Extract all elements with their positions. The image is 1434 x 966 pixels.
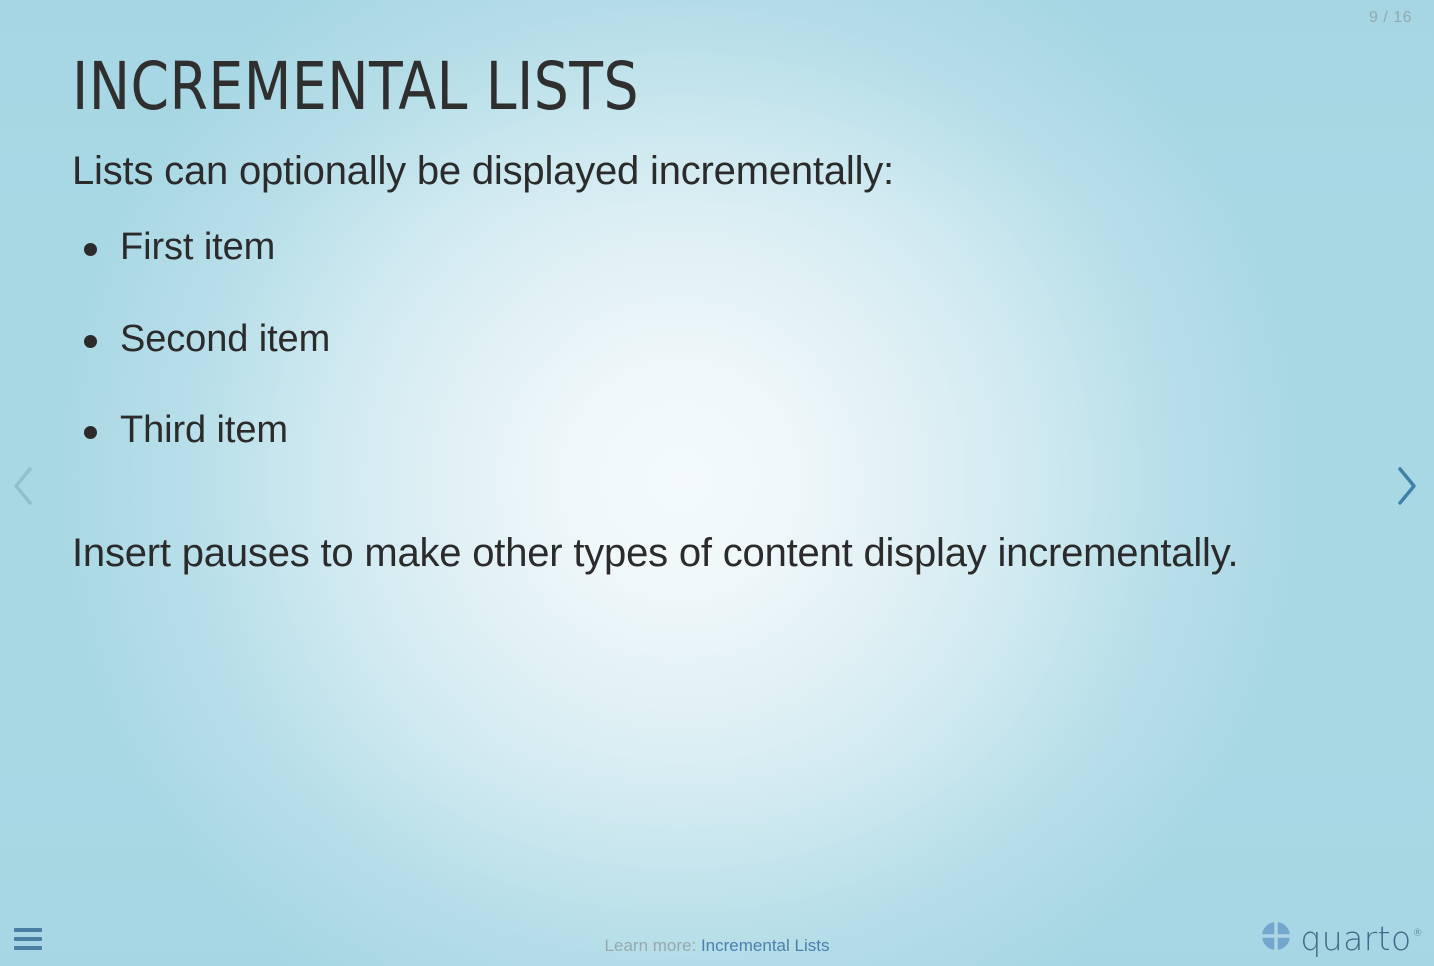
slide-content: INCREMENTAL LISTS Lists can optionally b… (72, 52, 1362, 580)
quarto-wordmark: quarto® (1300, 922, 1422, 955)
hamburger-menu-icon[interactable] (12, 924, 46, 954)
bullet-dot-icon (84, 243, 97, 256)
list-item: Third item (72, 408, 1362, 454)
page-indicator: 9 / 16 (1369, 9, 1412, 27)
menu-bar (14, 928, 42, 932)
closing-paragraph: Insert pauses to make other types of con… (72, 526, 1287, 580)
menu-bar (14, 946, 42, 950)
menu-bar (14, 937, 42, 941)
list-item: First item (72, 225, 1362, 271)
list-item-label: Second item (120, 318, 330, 360)
bullet-dot-icon (84, 335, 97, 348)
list-item-label: Third item (120, 409, 288, 451)
quarto-circle-icon (1261, 921, 1291, 956)
next-slide-button[interactable] (1384, 457, 1428, 515)
previous-slide-button[interactable] (2, 457, 46, 515)
page-title: INCREMENTAL LISTS (72, 52, 1272, 122)
list-item: Second item (72, 317, 1362, 363)
bullet-dot-icon (84, 426, 97, 439)
chevron-left-icon (11, 465, 37, 507)
slide-canvas: 9 / 16 INCREMENTAL LISTS Lists can optio… (0, 0, 1434, 966)
slide-footer: Learn more: Incremental Lists (0, 936, 1434, 956)
incremental-bullet-list: First item Second item Third item (72, 225, 1362, 454)
lead-paragraph: Lists can optionally be displayed increm… (72, 148, 1362, 195)
quarto-logo: quarto® (1261, 921, 1422, 956)
registered-trademark-icon: ® (1413, 928, 1423, 939)
quarto-wordmark-text: quarto (1300, 919, 1411, 958)
list-item-label: First item (120, 226, 275, 268)
footer-label: Learn more: (605, 936, 697, 955)
learn-more-link[interactable]: Incremental Lists (701, 936, 830, 955)
chevron-right-icon (1393, 465, 1419, 507)
